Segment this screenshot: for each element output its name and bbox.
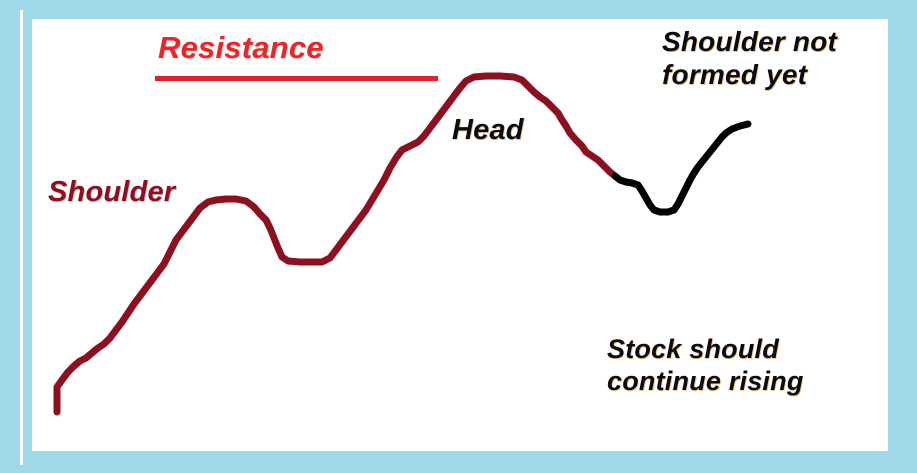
label-shoulder: Shoulder (48, 175, 175, 209)
label-head: Head (452, 113, 524, 147)
label-resistance: Resistance (158, 30, 324, 67)
border-hairline (20, 10, 23, 465)
label-stock-outlook-line2: continue rising (607, 366, 804, 398)
label-shoulder-not-formed-line1: Shoulder not (662, 25, 837, 58)
label-stock-outlook: Stock should continue rising (607, 334, 804, 398)
figure-root: Resistance Shoulder Head Shoulder not fo… (0, 0, 917, 473)
label-stock-outlook-line1: Stock should (607, 334, 804, 366)
label-shoulder-not-formed-line2: formed yet (662, 58, 837, 91)
resistance-level-line (155, 76, 438, 81)
label-shoulder-not-formed: Shoulder not formed yet (662, 25, 837, 91)
